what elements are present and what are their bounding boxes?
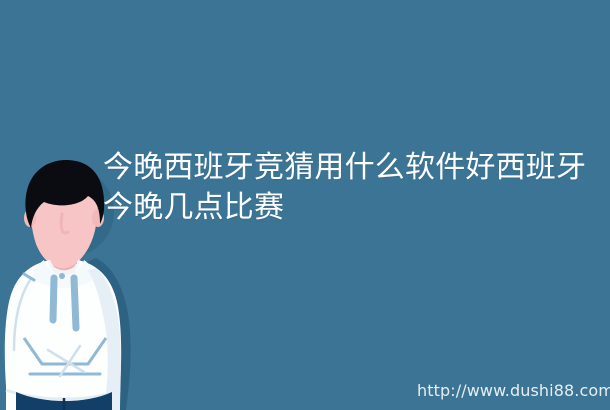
page-title: 今晚西班牙竞猜用什么软件好西班牙今晚几点比赛 [103, 148, 593, 228]
hood-eyelet [59, 273, 65, 279]
drawstring-right [74, 278, 76, 328]
watermark-url: http://www.dushi88.com.cn [417, 381, 610, 401]
promo-banner: 今晚西班牙竞猜用什么软件好西班牙今晚几点比赛 http://www.dushi8… [0, 0, 610, 410]
drawstring-left [53, 278, 54, 320]
